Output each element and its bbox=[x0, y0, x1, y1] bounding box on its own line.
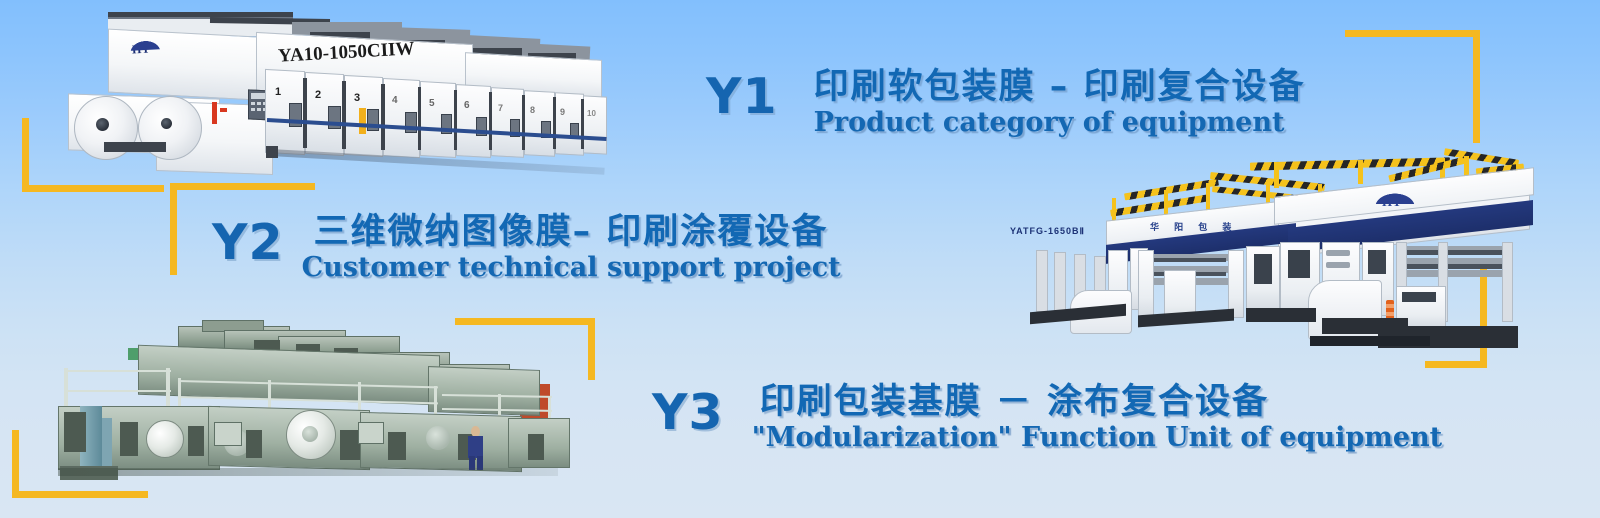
press-unit-number: 3 bbox=[354, 92, 360, 104]
equipment-banner: HY YA10-1050CIIW bbox=[0, 0, 1600, 518]
press-unit-number: 5 bbox=[429, 98, 435, 109]
press-unit-number: 4 bbox=[392, 95, 398, 106]
laminator-wing-mark bbox=[1370, 190, 1420, 204]
machine-photo-laminator: HY 华 阳 包 装 YATFG-1650BⅡ bbox=[978, 150, 1523, 355]
entry-title-en-y3: "Modularization" Function Unit of equipm… bbox=[752, 424, 1443, 452]
entry-row-y2: Y2 三维微纳图像膜– 印刷涂覆设备 Customer technical su… bbox=[212, 218, 841, 282]
entry-code-y1: Y1 bbox=[706, 72, 778, 121]
entry-row-y1: Y1 印刷软包装膜 – 印刷复合设备 Product category of e… bbox=[706, 72, 1305, 137]
laminator-brand-cn: 华 阳 包 装 bbox=[1150, 220, 1237, 233]
laminator-model-label: YATFG-1650BⅡ bbox=[1010, 226, 1085, 237]
press-unit-number: 7 bbox=[498, 103, 503, 113]
entry-row-y3: Y3 印刷包装基膜 － 涂布复合设备 "Modularization" Func… bbox=[652, 388, 1442, 452]
press-unit-number: 2 bbox=[315, 89, 321, 101]
press-unit-number: 9 bbox=[560, 107, 565, 117]
press-unit-number: 6 bbox=[464, 100, 470, 111]
entry-title-cn-y3: 印刷包装基膜 － 涂布复合设备 bbox=[760, 383, 1443, 422]
operator-body bbox=[468, 436, 483, 458]
press-unit-number: 10 bbox=[587, 109, 596, 118]
press-unit-number: 1 bbox=[275, 86, 281, 98]
entry-title-en-y1: Product category of equipment bbox=[814, 109, 1306, 137]
press-wing-mark bbox=[126, 37, 165, 51]
machine-photo-coating-line bbox=[28, 318, 573, 483]
entry-title-cn-y2: 三维微纳图像膜– 印刷涂覆设备 bbox=[314, 213, 841, 252]
entry-code-y3: Y3 bbox=[652, 388, 724, 437]
entry-title-cn-y1: 印刷软包装膜 – 印刷复合设备 bbox=[814, 68, 1306, 107]
machine-photo-gravure-press: HY YA10-1050CIIW bbox=[60, 8, 605, 173]
press-unit-number: 8 bbox=[530, 105, 535, 115]
bracket-top-right bbox=[1345, 30, 1480, 143]
entry-code-y2: Y2 bbox=[212, 218, 284, 267]
entry-title-en-y2: Customer technical support project bbox=[302, 254, 841, 282]
